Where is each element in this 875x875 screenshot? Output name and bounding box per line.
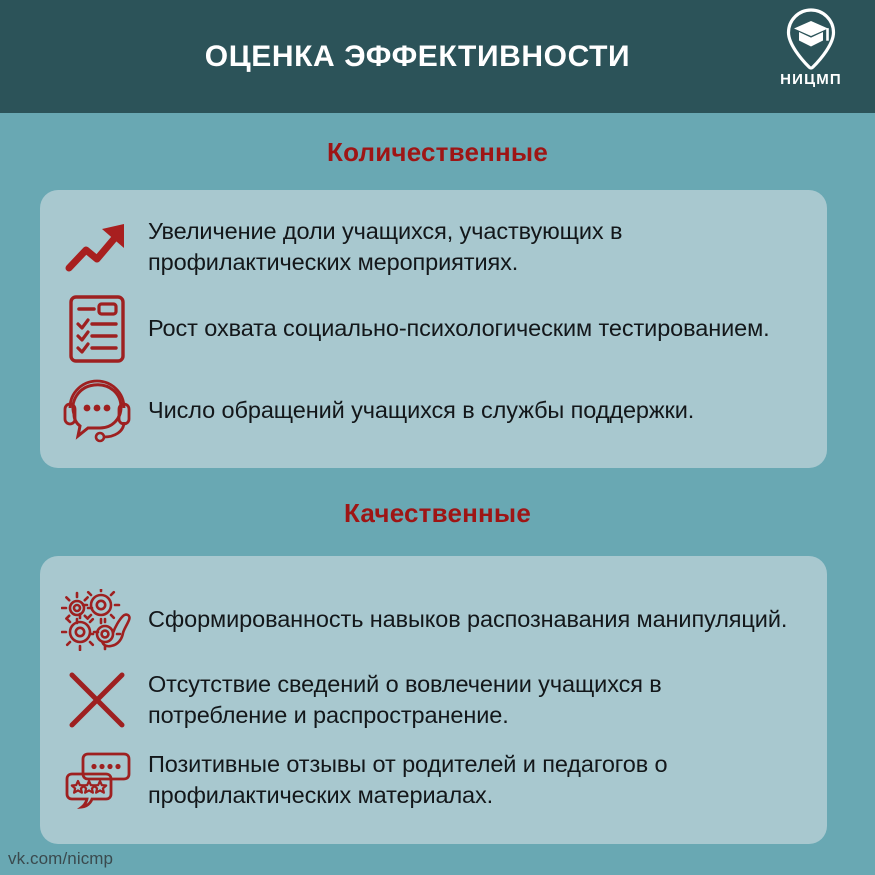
list-item: Отсутствие сведений о вовлечении учащихс… [60,663,805,737]
page-header: ОЦЕНКА ЭФФЕКТИВНОСТИ НИЦМП [0,0,875,113]
gears-hand-icon [60,583,134,657]
list-item: Сформированность навыков распознавания м… [60,583,805,657]
location-pin-graduation-cap-icon [783,8,839,70]
page-title: ОЦЕНКА ЭФФЕКТИВНОСТИ [205,40,670,74]
list-item-text: Отсутствие сведений о вовлечении учащихс… [148,669,805,732]
logo-text: НИЦМП [780,71,842,88]
list-item-text: Увеличение доли учащихся, участвующих в … [148,216,805,279]
cross-x-icon [60,663,134,737]
list-item-text: Рост охвата социально-психологическим те… [148,313,770,344]
brand-logo: НИЦМП [765,8,857,104]
list-item-text: Позитивные отзывы от родителей и педагог… [148,749,805,812]
section-heading-quantitative: Количественные [0,137,875,168]
speech-bubbles-stars-icon [60,743,134,817]
list-item: Рост охвата социально-психологическим те… [60,292,805,366]
list-item-text: Сформированность навыков распознавания м… [148,604,787,635]
support-headset-icon [60,374,134,448]
qualitative-card: Сформированность навыков распознавания м… [40,556,827,844]
list-item: Число обращений учащихся в службы поддер… [60,374,805,448]
section-heading-qualitative: Качественные [0,498,875,529]
checklist-clipboard-icon [60,292,134,366]
quantitative-card: Увеличение доли учащихся, участвующих в … [40,190,827,468]
growth-arrow-icon [60,210,134,284]
footer-link[interactable]: vk.com/nicmp [8,849,113,869]
list-item: Увеличение доли учащихся, участвующих в … [60,210,805,284]
list-item-text: Число обращений учащихся в службы поддер… [148,395,694,426]
list-item: Позитивные отзывы от родителей и педагог… [60,743,805,817]
